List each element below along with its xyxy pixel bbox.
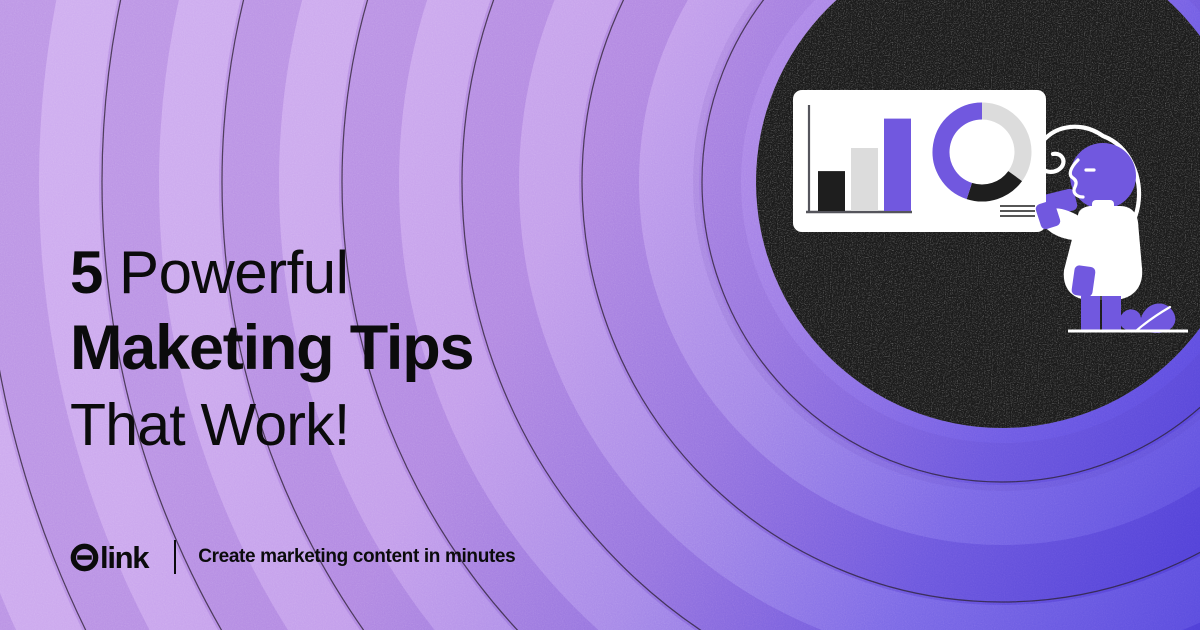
brand-footer: link Create marketing content in minutes (70, 540, 515, 574)
elink-logo[interactable]: link (70, 542, 148, 573)
headline-line-3: That Work! (70, 396, 690, 455)
page-title: 5 Powerful Maketing Tips That Work! (70, 243, 690, 455)
headline-line-1-rest: Powerful (103, 239, 349, 306)
elink-logo-text: link (100, 542, 148, 573)
leg-left (1081, 296, 1100, 332)
bar-3 (884, 119, 911, 211)
footer-divider (174, 540, 176, 574)
arm-cuff (1071, 265, 1096, 298)
bar-1 (818, 171, 845, 211)
head (1070, 143, 1136, 209)
brand-tagline: Create marketing content in minutes (198, 546, 515, 568)
whiteboard-panel (793, 90, 1046, 232)
headline-line-1: 5 Powerful (70, 243, 690, 303)
barred-e-icon (70, 543, 99, 572)
social-banner: 5 Powerful Maketing Tips That Work! link… (0, 0, 1200, 630)
bar-2 (851, 148, 878, 211)
headline-number: 5 (70, 239, 103, 306)
leg-right (1102, 296, 1121, 332)
headline-line-2: Maketing Tips (70, 317, 690, 380)
